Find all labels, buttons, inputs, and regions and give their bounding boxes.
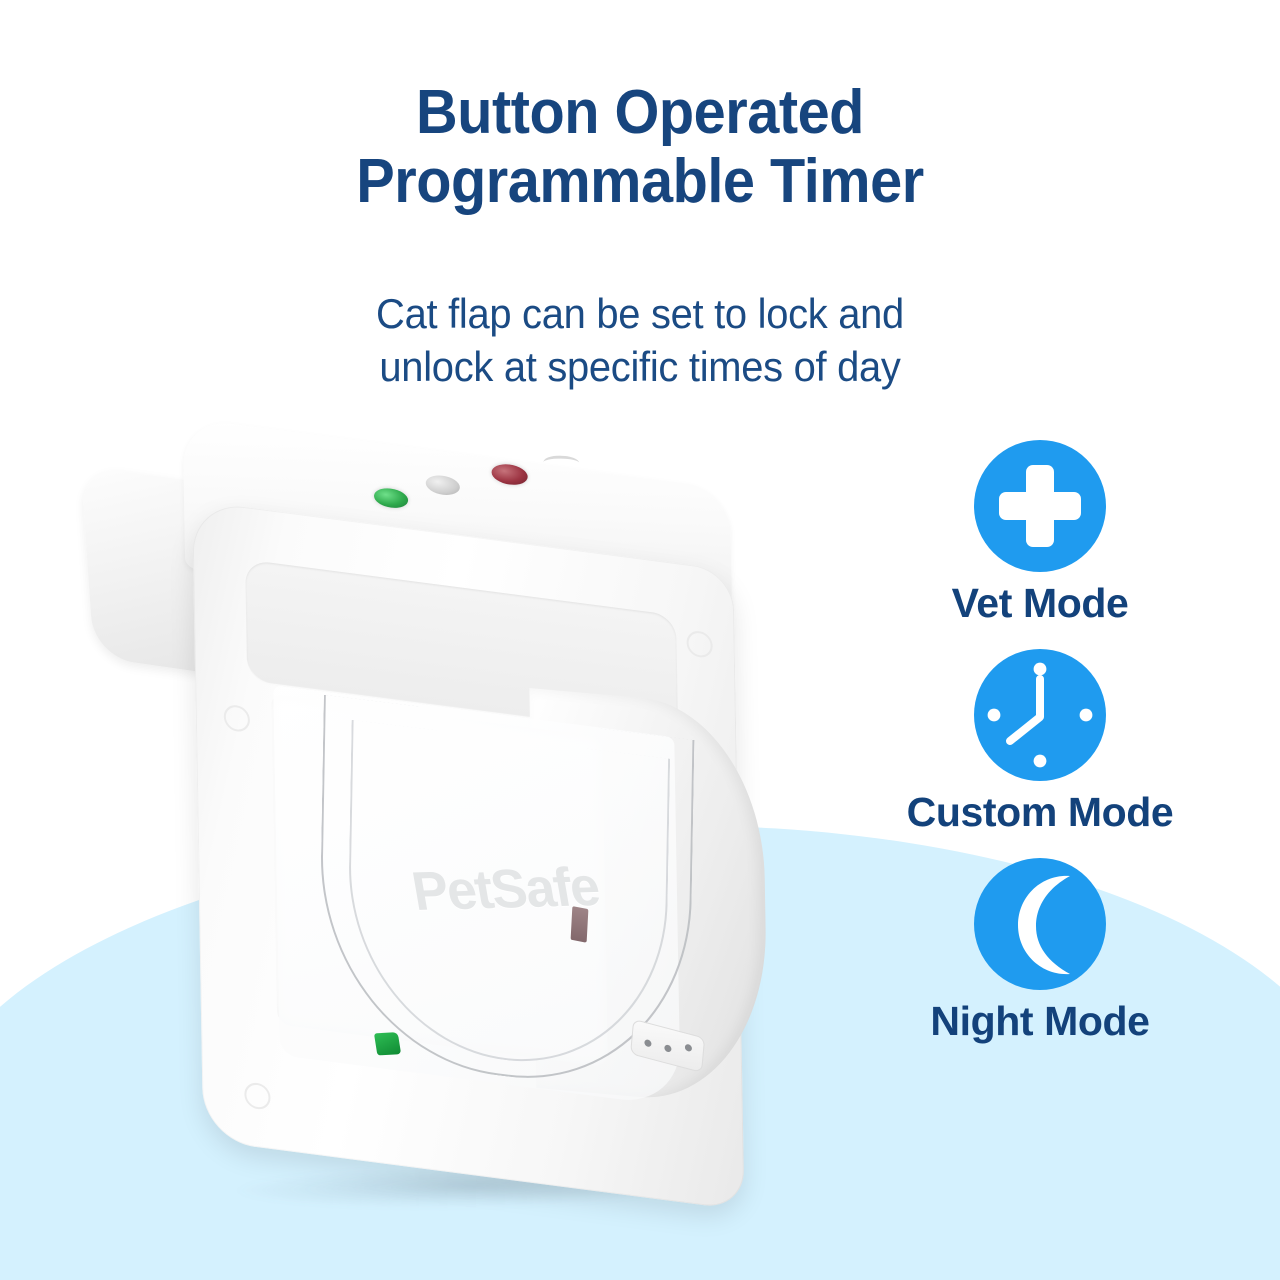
page-headline: Button Operated Programmable Timer xyxy=(45,78,1235,217)
feature-label-vet-mode: Vet Mode xyxy=(952,580,1129,627)
page-subheadline: Cat flap can be set to lock and unlock a… xyxy=(32,287,1248,394)
moon-icon xyxy=(974,858,1106,990)
plus-icon xyxy=(974,440,1106,572)
feature-item-custom-mode: Custom Mode xyxy=(830,649,1250,836)
selector-dial-icon xyxy=(543,455,581,470)
feature-label-night-mode: Night Mode xyxy=(930,998,1149,1045)
feature-item-vet-mode: Vet Mode xyxy=(830,440,1250,627)
product-image: PetSafe xyxy=(80,440,780,1240)
magnet-strip xyxy=(571,906,589,943)
product-feature-graphic: Button Operated Programmable Timer Cat f… xyxy=(0,0,1280,1280)
feature-item-night-mode: Night Mode xyxy=(830,858,1250,1045)
feature-mode-list: Vet Mode Custom Mode xyxy=(830,440,1250,1045)
feature-label-custom-mode: Custom Mode xyxy=(907,789,1174,836)
clock-icon xyxy=(974,649,1106,781)
green-latch-tab xyxy=(374,1032,401,1055)
